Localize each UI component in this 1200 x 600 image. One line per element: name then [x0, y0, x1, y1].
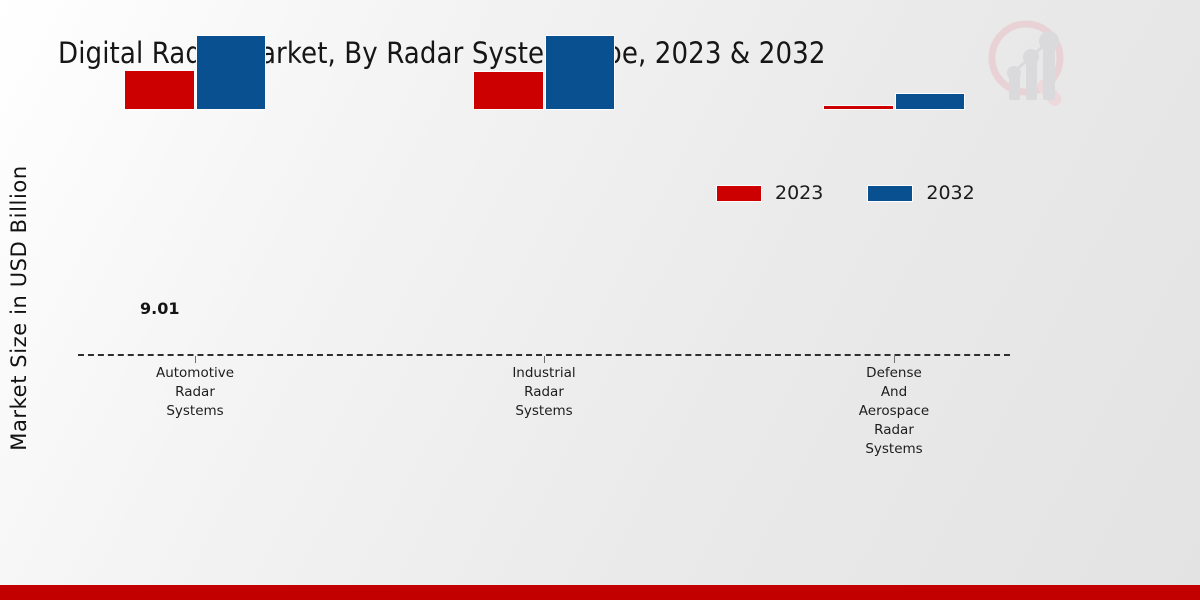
bar-2032-defense-and-aerospace-radar-systems[interactable]	[895, 93, 965, 110]
chart-canvas: Digital Radar Market, By Radar System Ty…	[0, 0, 1200, 600]
x-axis-label-defense-and-aerospace-radar-systems: Defense And Aerospace Radar Systems	[794, 364, 994, 459]
x-axis-label-line: Systems	[794, 440, 994, 459]
bar-group-defense-and-aerospace-radar-systems	[823, 0, 965, 355]
tick-mark-defense	[894, 356, 895, 363]
x-axis-label-line: Aerospace	[794, 402, 994, 421]
x-axis-label-line: Defense	[794, 364, 994, 383]
x-axis-label-line: Radar	[794, 421, 994, 440]
bar-2023-defense-and-aerospace-radar-systems[interactable]	[823, 105, 894, 110]
x-axis-label-line: Radar	[444, 383, 644, 402]
x-axis-label-line: Systems	[95, 402, 295, 421]
x-axis-label-line: Radar	[95, 383, 295, 402]
x-axis-label-line: Automotive	[95, 364, 295, 383]
bar-2023-industrial-radar-systems[interactable]	[473, 71, 544, 110]
bar-2032-automotive-radar-systems[interactable]	[196, 35, 266, 110]
tick-mark-industrial	[544, 356, 545, 363]
x-axis-label-line: And	[794, 383, 994, 402]
tick-mark-automotive	[195, 356, 196, 363]
bar-group-industrial-radar-systems	[473, 0, 615, 355]
x-axis-label-industrial-radar-systems: Industrial Radar Systems	[444, 364, 644, 421]
bar-value-label-automotive-2023: 9.01	[140, 299, 179, 318]
plot-area: 9.01 Automotive Radar Systems Industrial…	[0, 0, 1200, 600]
x-axis-label-automotive-radar-systems: Automotive Radar Systems	[95, 364, 295, 421]
bar-2032-industrial-radar-systems[interactable]	[545, 35, 615, 110]
bar-2023-automotive-radar-systems[interactable]	[124, 70, 195, 110]
x-axis-label-line: Systems	[444, 402, 644, 421]
footer-bar	[0, 585, 1200, 600]
x-axis-label-line: Industrial	[444, 364, 644, 383]
